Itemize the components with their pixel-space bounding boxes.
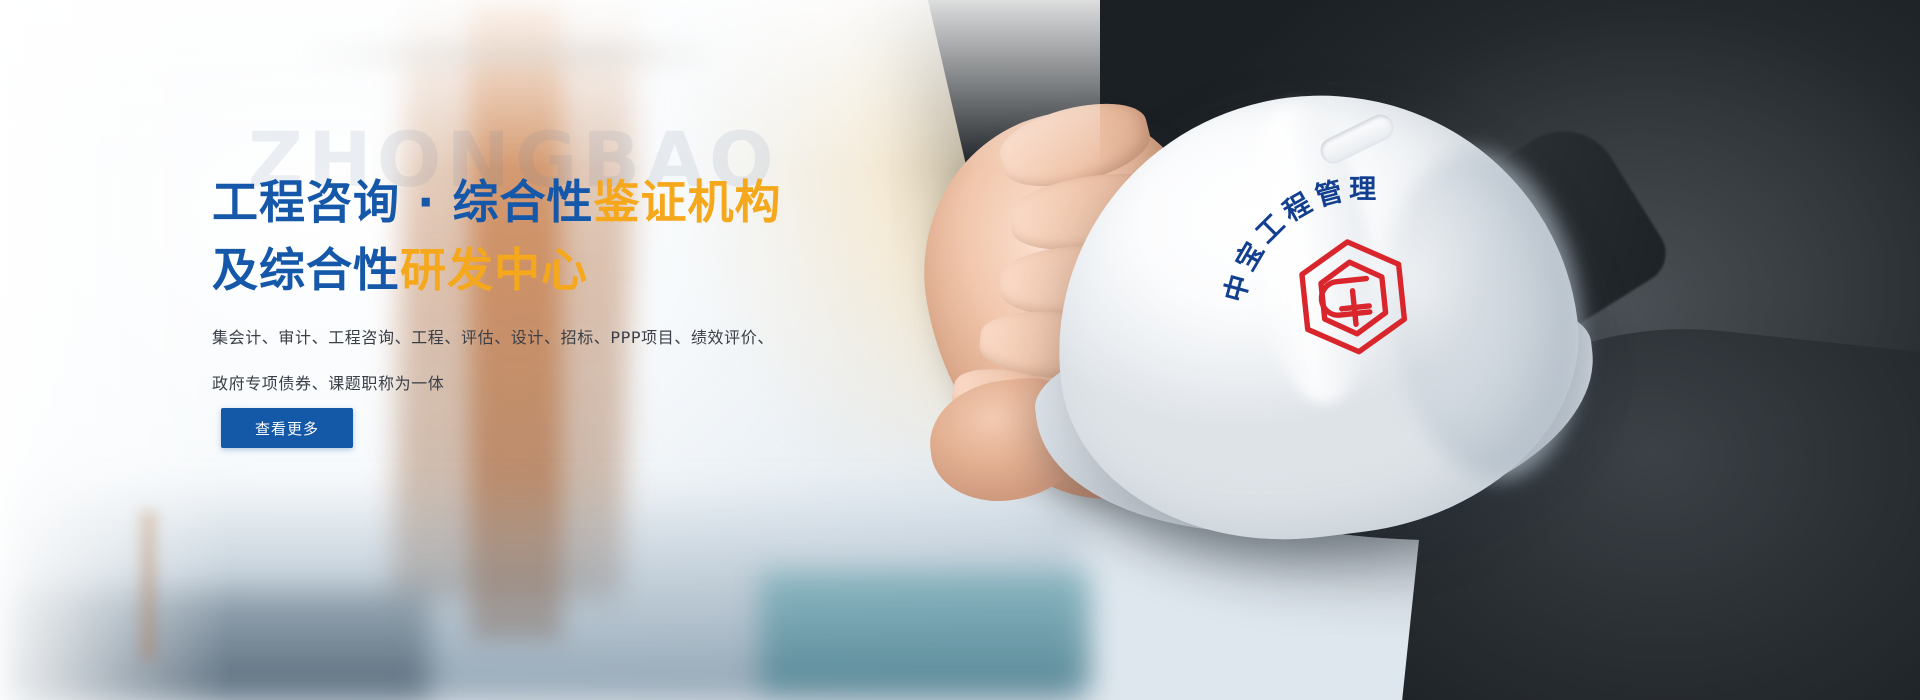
headline-line-1: 工程咨询 · 综合性鉴证机构	[212, 168, 782, 236]
view-more-button[interactable]: 查看更多	[221, 408, 353, 448]
hero-description: 集会计、审计、工程咨询、工程、评估、设计、招标、PPP项目、绩效评价、 政府专项…	[212, 315, 774, 408]
description-line-1: 集会计、审计、工程咨询、工程、评估、设计、招标、PPP项目、绩效评价、	[212, 315, 774, 361]
hero-headline: 工程咨询 · 综合性鉴证机构 及综合性研发中心	[212, 168, 782, 304]
hero-banner: 中宝工程管理 ZHONGBAO 工程咨询 · 综合性鉴	[0, 0, 1920, 700]
description-line-2: 政府专项债券、课题职称为一体	[212, 361, 774, 407]
headline-line-2-primary: 及综合性	[212, 243, 400, 297]
headline-line-2: 及综合性研发中心	[212, 236, 782, 304]
headline-line-1-primary: 工程咨询 · 综合性	[212, 175, 594, 229]
hero-content: ZHONGBAO 工程咨询 · 综合性鉴证机构 及综合性研发中心 集会计、审计、…	[0, 0, 1920, 700]
headline-line-2-accent: 研发中心	[400, 243, 588, 297]
headline-line-1-accent: 鉴证机构	[594, 175, 782, 229]
